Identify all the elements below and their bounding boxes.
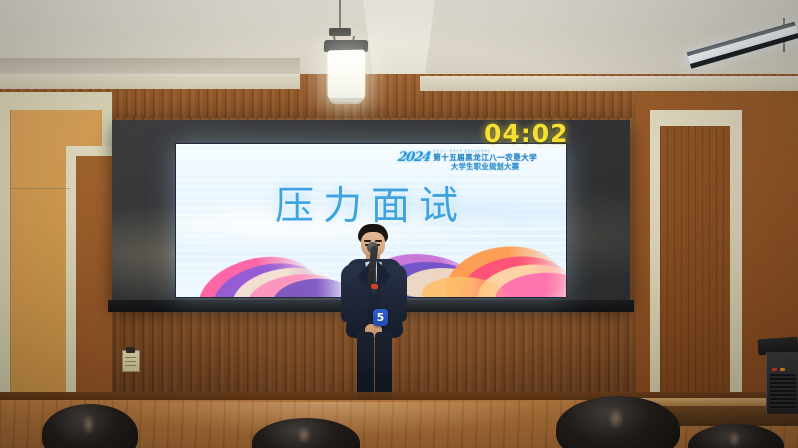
cream-band-left bbox=[0, 74, 300, 89]
slide-header: 2024 黑龙江八一农垦大学 就业创业指导中心 第十五届黑龙江八一农垦大学 大学… bbox=[398, 150, 558, 178]
slide-header-subtitle: 黑龙江八一农垦大学 就业创业指导中心 bbox=[433, 150, 537, 153]
alcove-seam bbox=[10, 188, 70, 189]
cream-band-right bbox=[420, 76, 798, 91]
audience-hair-part bbox=[297, 426, 311, 444]
alcove-door bbox=[76, 156, 112, 392]
slide-header-lines: 黑龙江八一农垦大学 就业创业指导中心 第十五届黑龙江八一农垦大学 大学生职业规划… bbox=[433, 150, 537, 171]
presenter: 5 bbox=[331, 224, 417, 420]
alcove-seam bbox=[10, 110, 11, 390]
wall-sign bbox=[122, 350, 140, 372]
audience-hair-part bbox=[728, 431, 740, 447]
year-logo: 2024 bbox=[397, 151, 431, 164]
auditorium-scene: 04:02 2024 黑龙江八一农垦大学 就业创业指导中心 第十五届黑龙江八一农… bbox=[0, 0, 798, 448]
doorway-door bbox=[660, 126, 730, 392]
audience-hair-part bbox=[82, 414, 94, 436]
slide-header-line2: 大学生职业规划大赛 bbox=[433, 162, 537, 171]
pendant-bottom bbox=[329, 98, 363, 104]
microphone-ring bbox=[371, 284, 378, 290]
audience-hair-part bbox=[608, 407, 624, 431]
left-alcove bbox=[0, 92, 112, 392]
countdown-timer: 04:02 bbox=[484, 119, 569, 148]
wall-sign-clip bbox=[126, 347, 135, 353]
pendant-light-icon bbox=[327, 50, 365, 103]
wall-sign-line bbox=[125, 357, 136, 358]
equipment-grill bbox=[770, 374, 796, 408]
wall-sign-line bbox=[125, 365, 136, 366]
contestant-badge: 5 bbox=[373, 309, 388, 326]
presenter-brow bbox=[375, 240, 382, 242]
wall-sign-line bbox=[125, 361, 136, 362]
audio-equipment bbox=[766, 352, 798, 414]
pendant-bracket bbox=[329, 28, 351, 36]
equipment-led-icon bbox=[780, 368, 785, 371]
equipment-led-icon bbox=[772, 368, 777, 371]
